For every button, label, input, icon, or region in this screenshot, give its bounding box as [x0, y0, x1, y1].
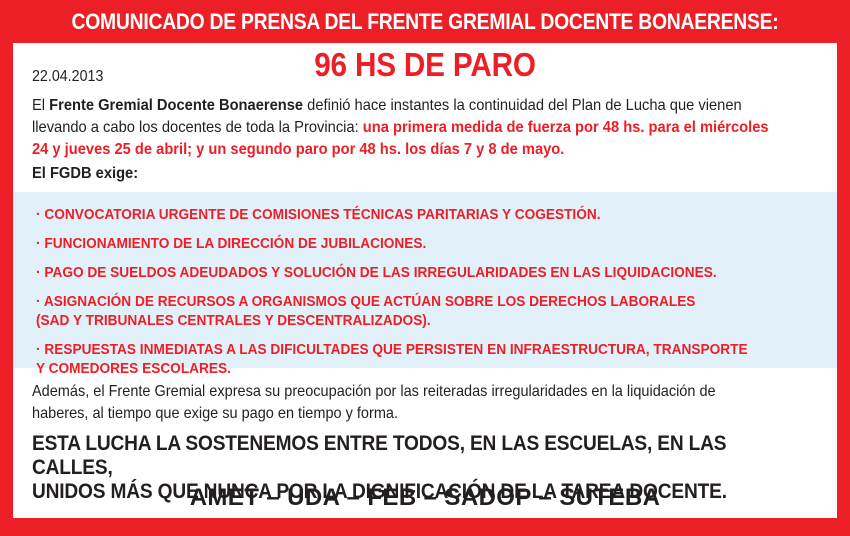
- content-area: 96 HS DE PARO 22.04.2013 El Frente Gremi…: [13, 43, 837, 518]
- demands-label: El FGDB exige:: [32, 165, 138, 183]
- header-title: COMUNICADO DE PRENSA DEL FRENTE GREMIAL …: [60, 0, 791, 43]
- demand-item: · CONVOCATORIA URGENTE DE COMISIONES TÉC…: [36, 205, 757, 224]
- headline: 96 HS DE PARO: [54, 46, 796, 84]
- red-frame-right: [837, 0, 850, 536]
- demand-item: · ASIGNACIÓN DE RECURSOS A ORGANISMOS QU…: [36, 292, 757, 330]
- press-release-poster: COMUNICADO DE PRENSA DEL FRENTE GREMIAL …: [0, 0, 850, 536]
- demands-panel: · CONVOCATORIA URGENTE DE COMISIONES TÉC…: [13, 192, 837, 368]
- publication-date: 22.04.2013: [32, 68, 103, 86]
- closing-paragraph: Además, el Frente Gremial expresa su pre…: [32, 381, 769, 425]
- demand-item: · PAGO DE SUELDOS ADEUDADOS Y SOLUCIÓN D…: [36, 263, 757, 282]
- intro-part1: El: [32, 97, 49, 114]
- red-frame-left: [0, 0, 13, 536]
- red-frame-bottom: [0, 518, 850, 536]
- union-signatures: AMET – UDA – FEB – SADOP – SUTEBA: [13, 484, 837, 512]
- intro-org-name: Frente Gremial Docente Bonaerense: [49, 97, 303, 114]
- demand-item: · FUNCIONAMIENTO DE LA DIRECCIÓN DE JUBI…: [36, 234, 757, 253]
- demand-item: · RESPUESTAS INMEDIATAS A LAS DIFICULTAD…: [36, 340, 757, 378]
- intro-paragraph: El Frente Gremial Docente Bonaerense def…: [32, 95, 769, 161]
